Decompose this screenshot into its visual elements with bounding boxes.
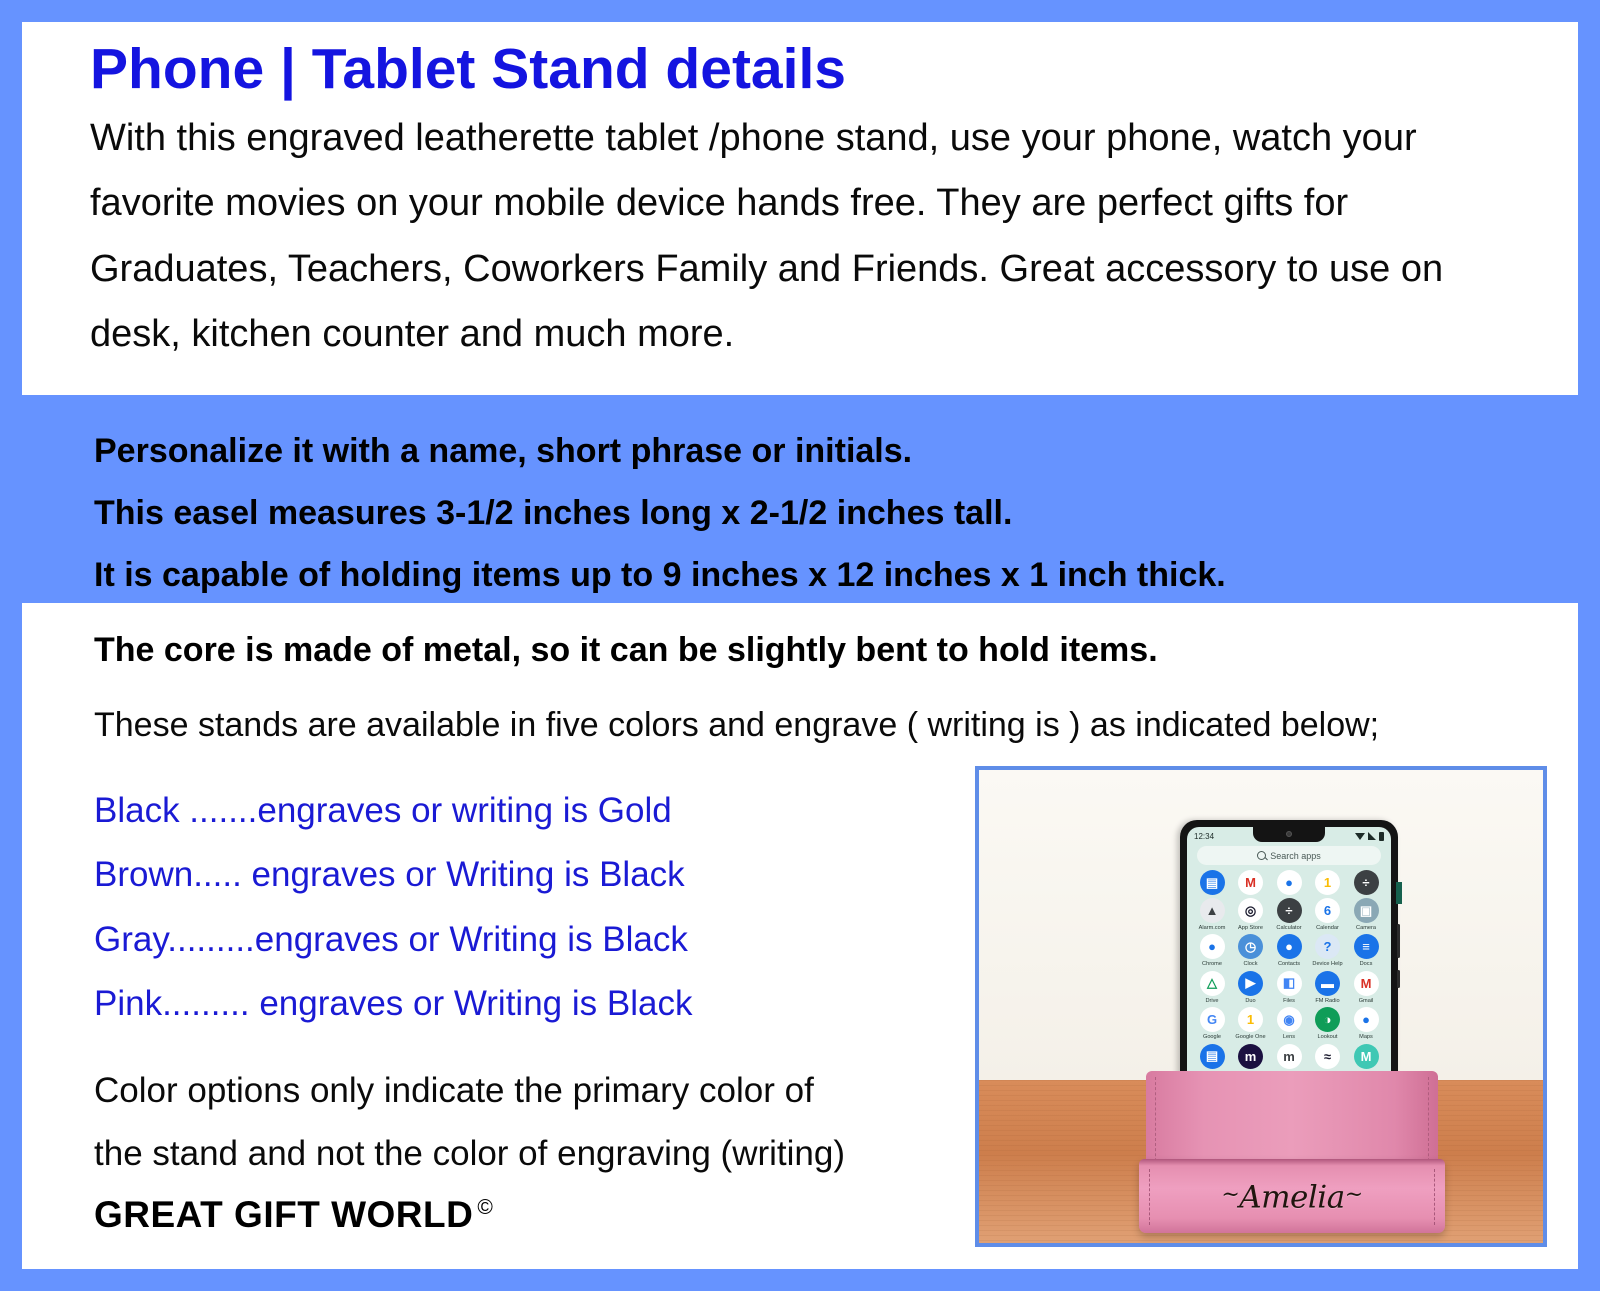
app-icon-icon: 1	[1315, 870, 1340, 895]
app-calendar-icon: 6	[1315, 898, 1340, 923]
app-device-help-icon: ?	[1315, 934, 1340, 959]
app-gmail-label: Gmail	[1359, 998, 1374, 1004]
copyright-icon: ©	[477, 1196, 493, 1219]
front-camera-icon	[1286, 831, 1292, 837]
app-icon-icon: ÷	[1354, 870, 1379, 895]
app-icon-icon: ●	[1277, 870, 1302, 895]
app-google-label: Google	[1203, 1034, 1221, 1040]
app-calculator-label: Calculator	[1276, 925, 1301, 931]
search-apps-label: Search apps	[1270, 851, 1321, 861]
engraved-name-text: Amelia	[1239, 1179, 1344, 1215]
app-google-one-icon: 1	[1238, 1007, 1263, 1032]
app-row: GGoogle1Google One◉Lens◑Lookout●Maps	[1191, 1007, 1387, 1040]
swash-right-icon: ~	[1345, 1182, 1363, 1207]
app-duo[interactable]: ▶Duo	[1234, 971, 1268, 1004]
app-drive[interactable]: △Drive	[1195, 971, 1229, 1004]
app-icon[interactable]: M	[1234, 870, 1268, 895]
app-device-help[interactable]: ?Device Help	[1311, 934, 1345, 967]
disclaimer-line-1: Color options only indicate the primary …	[94, 1059, 994, 1123]
search-icon	[1257, 851, 1266, 860]
app-clock[interactable]: ◷Clock	[1234, 934, 1268, 967]
app-calendar[interactable]: 6Calendar	[1311, 898, 1345, 931]
app-icon-icon: M	[1238, 870, 1263, 895]
app-contacts-icon: ●	[1277, 934, 1302, 959]
app-gmail-icon: M	[1354, 971, 1379, 996]
app-lens-icon: ◉	[1277, 1007, 1302, 1032]
app-icon[interactable]: ÷	[1349, 870, 1383, 895]
app-clock-label: Clock	[1244, 961, 1258, 967]
app-app-store-icon: ◎	[1238, 898, 1263, 923]
brand-label: GREAT GIFT WORLD	[94, 1194, 473, 1235]
app-lookout-icon: ◑	[1315, 1007, 1340, 1032]
app-camera-icon: ▣	[1354, 898, 1379, 923]
app-calculator-icon: ÷	[1277, 898, 1302, 923]
app-icon[interactable]: ▤	[1195, 870, 1229, 895]
app-row: ●Chrome◷Clock●Contacts?Device Help≡Docs	[1191, 934, 1387, 967]
app-alarm-com-icon: ▲	[1200, 898, 1225, 923]
app-clock-icon: ◷	[1238, 934, 1263, 959]
intro-paragraph: With this engraved leatherette tablet /p…	[90, 106, 1490, 367]
app-google-icon: G	[1200, 1007, 1225, 1032]
app-icon[interactable]: ●	[1272, 870, 1306, 895]
app-calculator[interactable]: ÷Calculator	[1272, 898, 1306, 931]
app-row: ▲Alarm.com◎App Store÷Calculator6Calendar…	[1191, 898, 1387, 931]
app-duo-icon: ▶	[1238, 971, 1263, 996]
app-contacts-label: Contacts	[1278, 961, 1300, 967]
app-metrozone-icon: m	[1277, 1044, 1302, 1069]
app-messages-icon: ▤	[1200, 1044, 1225, 1069]
spec-line-capacity: It is capable of holding items up to 9 i…	[94, 545, 1548, 607]
app-lookout-label: Lookout	[1318, 1034, 1338, 1040]
app-docs-label: Docs	[1360, 961, 1373, 967]
app-mobile-hotspot-icon: ≈	[1315, 1044, 1340, 1069]
status-icon-group	[1355, 832, 1384, 841]
app-device-help-label: Device Help	[1312, 961, 1342, 967]
app-calendar-label: Calendar	[1316, 925, 1339, 931]
app-chrome-label: Chrome	[1202, 961, 1222, 967]
stand-front-panel: ~Amelia~	[1139, 1159, 1445, 1233]
page-title: Phone | Tablet Stand details	[90, 40, 1548, 100]
battery-icon	[1379, 832, 1384, 841]
app-google[interactable]: GGoogle	[1195, 1007, 1229, 1040]
app-chrome-icon: ●	[1200, 934, 1225, 959]
app-docs-icon: ≡	[1354, 934, 1379, 959]
app-gmail[interactable]: MGmail	[1349, 971, 1383, 1004]
phone-notch	[1253, 827, 1325, 842]
app-duo-label: Duo	[1245, 998, 1255, 1004]
app-app-store-label: App Store	[1238, 925, 1263, 931]
app-camera-label: Camera	[1356, 925, 1376, 931]
specs-section: Personalize it with a name, short phrase…	[22, 395, 1578, 603]
app-files-icon: ◧	[1277, 971, 1302, 996]
app-fm-radio-label: FM Radio	[1315, 998, 1339, 1004]
poster-frame: Phone | Tablet Stand details With this e…	[0, 0, 1600, 1291]
search-apps-bar[interactable]: Search apps	[1197, 846, 1381, 865]
app-google-one[interactable]: 1Google One	[1234, 1007, 1268, 1040]
app-alarm-com[interactable]: ▲Alarm.com	[1195, 898, 1229, 931]
app-fm-radio[interactable]: ▬FM Radio	[1311, 971, 1345, 1004]
swash-left-icon: ~	[1221, 1182, 1239, 1207]
app-lens-label: Lens	[1283, 1034, 1295, 1040]
app-contacts[interactable]: ●Contacts	[1272, 934, 1306, 967]
app-icon[interactable]: 1	[1311, 870, 1345, 895]
app-chrome[interactable]: ●Chrome	[1195, 934, 1229, 967]
app-google-one-label: Google One	[1235, 1034, 1265, 1040]
app-lookout[interactable]: ◑Lookout	[1311, 1007, 1345, 1040]
app-maps[interactable]: ●Maps	[1349, 1007, 1383, 1040]
disclaimer-line-2: the stand and not the color of engraving…	[94, 1122, 994, 1186]
phone-green-accent	[1396, 882, 1402, 904]
wifi-icon	[1355, 833, 1365, 840]
status-time: 12:34	[1194, 832, 1214, 841]
app-icon-icon: ▤	[1200, 870, 1225, 895]
app-files-label: Files	[1283, 998, 1295, 1004]
app-app-store[interactable]: ◎App Store	[1234, 898, 1268, 931]
spec-line-measures: This easel measures 3-1/2 inches long x …	[94, 483, 1548, 545]
poster-body: Phone | Tablet Stand details With this e…	[22, 22, 1578, 1269]
app-row: △Drive▶Duo◧Files▬FM RadioMGmail	[1191, 971, 1387, 1004]
intro-section: Phone | Tablet Stand details With this e…	[22, 22, 1578, 395]
app-metroplay-icon: m	[1238, 1044, 1263, 1069]
app-drive-icon: △	[1200, 971, 1225, 996]
app-maps-icon: ●	[1354, 1007, 1379, 1032]
app-alarm-com-label: Alarm.com	[1199, 925, 1226, 931]
power-button	[1397, 970, 1400, 988]
app-lens[interactable]: ◉Lens	[1272, 1007, 1306, 1040]
app-moto-icon: M	[1354, 1044, 1379, 1069]
core-note: The core is made of metal, so it can be …	[94, 631, 1578, 670]
availability-note: These stands are available in five color…	[94, 706, 1578, 745]
app-docs[interactable]: ≡Docs	[1349, 934, 1383, 967]
app-fm-radio-icon: ▬	[1315, 971, 1340, 996]
app-row: ▤M●1÷	[1191, 870, 1387, 895]
signal-icon	[1368, 832, 1376, 840]
engraved-name: ~Amelia~	[1139, 1179, 1445, 1215]
app-maps-label: Maps	[1359, 1034, 1373, 1040]
app-drive-label: Drive	[1205, 998, 1218, 1004]
product-photo: 12:34 Search apps ▤M●1÷▲Alarm.com◎App St…	[975, 766, 1547, 1247]
app-files[interactable]: ◧Files	[1272, 971, 1306, 1004]
volume-button	[1397, 924, 1400, 958]
spec-line-personalize: Personalize it with a name, short phrase…	[94, 421, 1548, 483]
app-camera[interactable]: ▣Camera	[1349, 898, 1383, 931]
